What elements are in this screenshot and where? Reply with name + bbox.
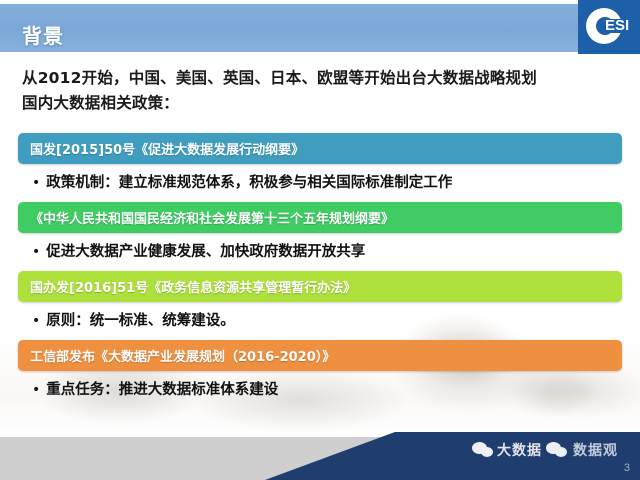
- policy-list: 国发[2015]50号《促进大数据发展行动纲要》 • 政策机制：建立标准规范体系…: [18, 133, 622, 409]
- title-line-1: 从2012开始，中国、美国、英国、日本、欧盟等开始出台大数据战略规划: [22, 66, 622, 91]
- wechat-icon: [472, 441, 494, 459]
- bullet-marker-icon: •: [32, 375, 40, 405]
- title-line-2: 国内大数据相关政策：: [22, 91, 622, 116]
- policy-band-2-label: 《中华人民共和国国民经济和社会发展第十三个五年规划纲要》: [30, 208, 394, 227]
- policy-bullet-2: • 促进大数据产业健康发展、加快政府数据开放共享: [18, 237, 622, 271]
- policy-band-3: 国办发[2016]51号《政务信息资源共享管理暂行办法》: [18, 271, 622, 302]
- watermark-secondary-text: 数据观: [573, 440, 618, 460]
- policy-band-4: 工信部发布《大数据产业发展规划（2016-2020）》: [18, 340, 622, 371]
- page-number: 3: [624, 462, 630, 474]
- policy-band-1: 国发[2015]50号《促进大数据发展行动纲要》: [18, 133, 622, 164]
- policy-bullet-2-text: 促进大数据产业健康发展、加快政府数据开放共享: [46, 237, 365, 267]
- wechat-icon: [546, 441, 568, 459]
- watermark-primary-text: 大数据: [497, 440, 542, 460]
- policy-band-3-label: 国办发[2016]51号《政务信息资源共享管理暂行办法》: [30, 277, 356, 296]
- policy-bullet-3-text: 原则：统一标准、统筹建设。: [46, 306, 235, 336]
- wechat-watermark: 大数据 数据观: [472, 440, 618, 460]
- slide-canvas: 背景 ESI 从2012开始，中国、美国、英国、日本、欧盟等开始出台大数据战略规…: [0, 0, 640, 480]
- policy-bullet-1: • 政策机制：建立标准规范体系，积极参与相关国际标准制定工作: [18, 168, 622, 202]
- bullet-marker-icon: •: [32, 237, 40, 267]
- policy-bullet-3: • 原则：统一标准、统筹建设。: [18, 306, 622, 340]
- policy-bullet-4: • 重点任务：推进大数据标准体系建设: [18, 375, 622, 409]
- logo-esi-text: ESI: [605, 17, 629, 34]
- cesi-logo: ESI: [578, 0, 640, 54]
- policy-band-1-label: 国发[2015]50号《促进大数据发展行动纲要》: [30, 139, 304, 158]
- page-title: 背景: [22, 20, 64, 49]
- policy-band-4-label: 工信部发布《大数据产业发展规划（2016-2020）》: [30, 346, 335, 365]
- title-block: 从2012开始，中国、美国、英国、日本、欧盟等开始出台大数据战略规划 国内大数据…: [22, 66, 622, 116]
- policy-bullet-1-text: 政策机制：建立标准规范体系，积极参与相关国际标准制定工作: [46, 168, 452, 198]
- header-bar: 背景: [0, 4, 640, 52]
- bullet-marker-icon: •: [32, 168, 40, 198]
- bullet-marker-icon: •: [32, 306, 40, 336]
- policy-band-2: 《中华人民共和国国民经济和社会发展第十三个五年规划纲要》: [18, 202, 622, 233]
- policy-bullet-4-text: 重点任务：推进大数据标准体系建设: [46, 375, 278, 405]
